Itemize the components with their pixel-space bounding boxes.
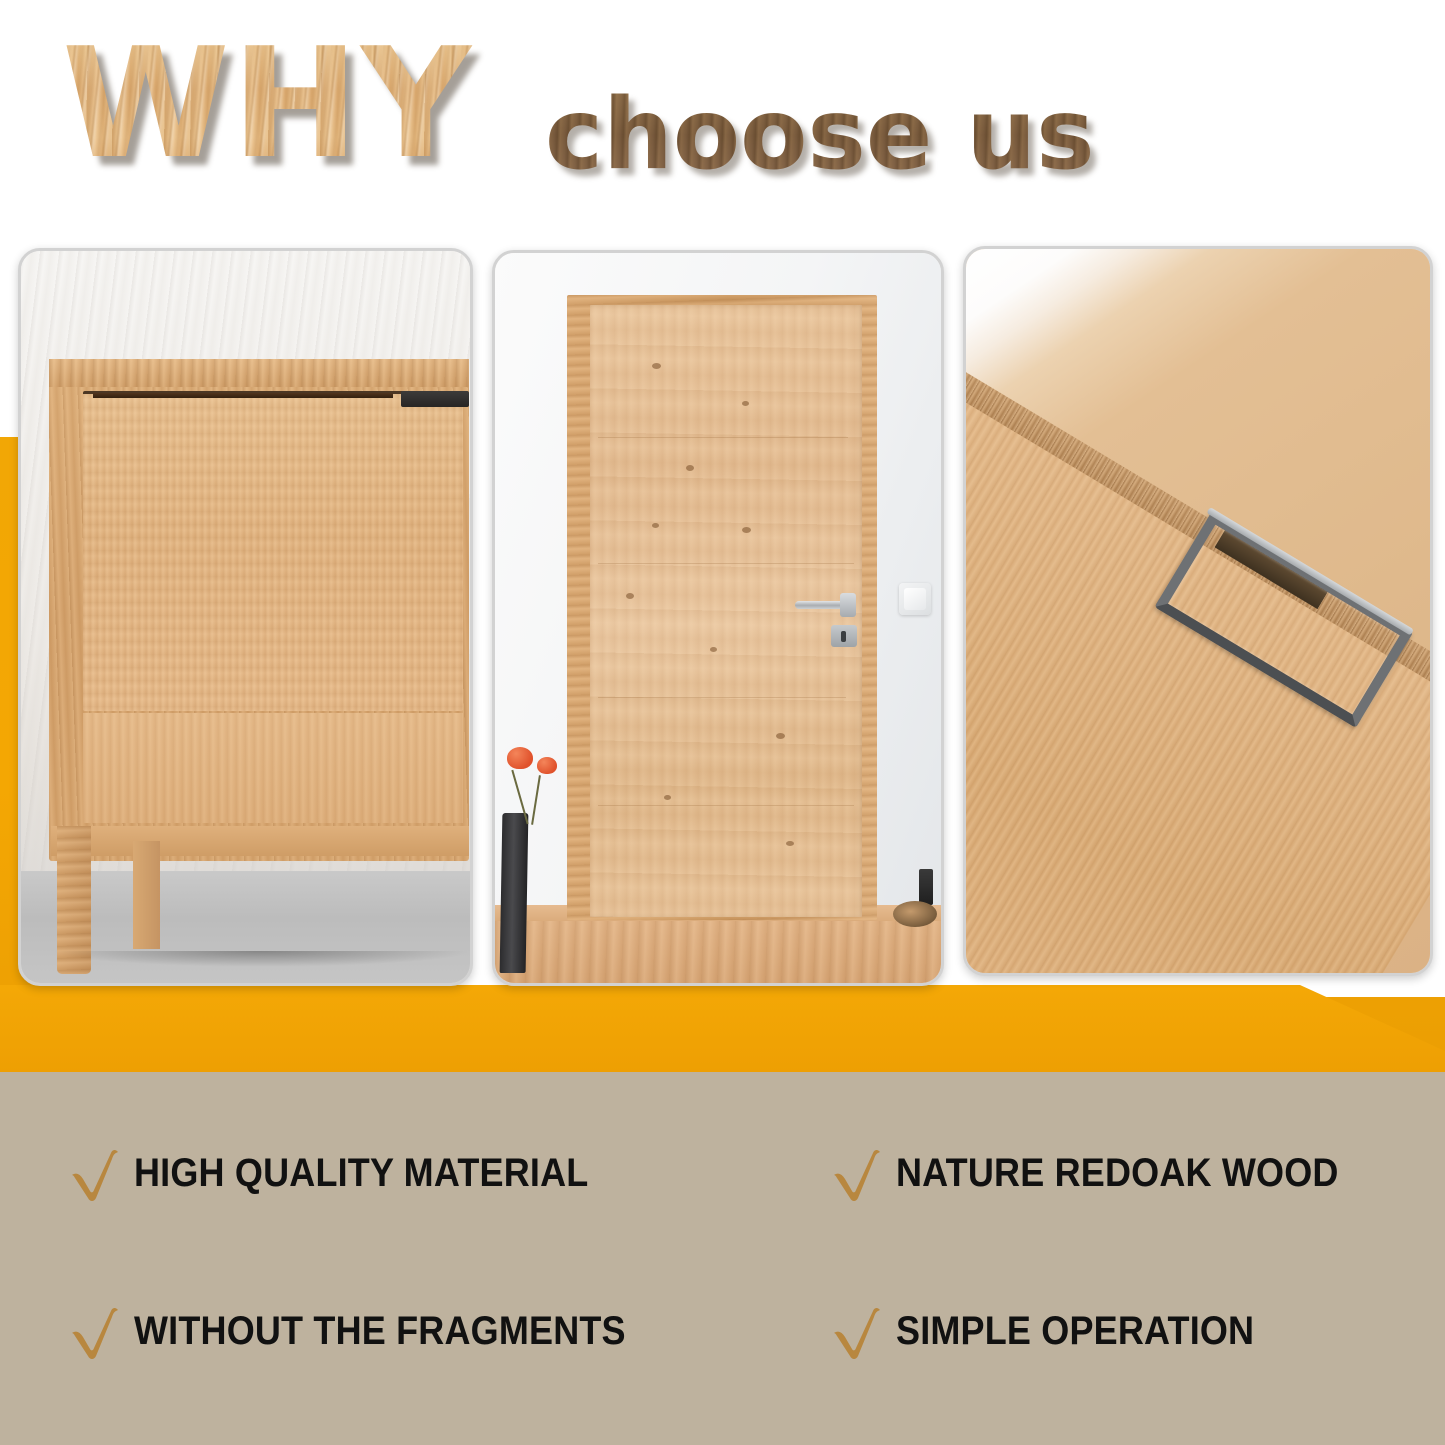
wood-knot <box>710 647 717 652</box>
wood-grain-line <box>598 805 854 806</box>
wood-grain-line <box>598 563 854 564</box>
door-leaf <box>590 305 862 917</box>
cabinet-floor-shadow <box>51 951 471 967</box>
wood-grain-line <box>598 697 846 698</box>
check-icon <box>828 1300 890 1362</box>
check-icon <box>828 1142 890 1204</box>
cabinet-lower-panel <box>83 713 463 823</box>
check-icon <box>66 1142 128 1204</box>
wood-knot <box>652 363 661 369</box>
feature-label: WITHOUT THE FRAGMENTS <box>134 1309 626 1354</box>
poppy-flower <box>507 747 533 769</box>
wood-knot <box>742 401 749 406</box>
wood-knot <box>626 593 634 599</box>
check-icon <box>66 1300 128 1362</box>
oak-sideboard-photo <box>21 251 470 983</box>
cabinet-skirt <box>51 826 469 856</box>
page-title-secondary: choose us <box>545 86 1095 184</box>
wood-knot <box>686 465 694 471</box>
feature-label: HIGH QUALITY MATERIAL <box>134 1151 588 1196</box>
keyhole-icon <box>841 631 846 642</box>
wood-knot <box>742 527 751 533</box>
cabinet-door-gap <box>93 393 393 398</box>
wood-knot <box>786 841 794 846</box>
oak-interior-door-photo <box>495 253 941 983</box>
feature-item-3: WITHOUT THE FRAGMENTS <box>66 1300 680 1362</box>
gallery-card-3[interactable] <box>963 246 1433 976</box>
features-panel <box>0 1072 1445 1445</box>
wood-knot <box>776 733 785 739</box>
wood-grain-line <box>598 437 848 438</box>
feature-label: SIMPLE OPERATION <box>896 1309 1254 1354</box>
gallery-card-2[interactable] <box>492 250 944 986</box>
poppy-flower <box>537 757 557 774</box>
cabinet-bar-handle <box>401 391 469 407</box>
infographic-root: WHY choose us <box>0 0 1445 1445</box>
floor-vase <box>500 813 529 973</box>
header: WHY choose us <box>0 0 1445 225</box>
cabinet-door-panel <box>83 391 463 711</box>
cabinet-top-panel <box>49 359 469 387</box>
door-stopper <box>919 869 933 905</box>
wood-knot <box>664 795 671 800</box>
cabinet-leg-middle <box>133 841 160 949</box>
door-handle-rosette <box>840 593 856 617</box>
wood-floor <box>495 921 941 986</box>
feature-label: NATURE REDOAK WOOD <box>896 1151 1339 1196</box>
decor-wood-log <box>893 901 937 927</box>
orange-accent-bottom <box>0 985 1445 1072</box>
page-title-primary: WHY <box>62 28 473 180</box>
feature-item-2: NATURE REDOAK WOOD <box>828 1142 1388 1204</box>
gallery-card-1[interactable] <box>18 248 473 986</box>
wood-knot <box>652 523 659 528</box>
feature-item-1: HIGH QUALITY MATERIAL <box>66 1142 639 1204</box>
light-switch-rocker[interactable] <box>904 588 926 610</box>
veneer-edge-closeup-photo <box>966 249 1430 973</box>
feature-item-4: SIMPLE OPERATION <box>828 1300 1294 1362</box>
